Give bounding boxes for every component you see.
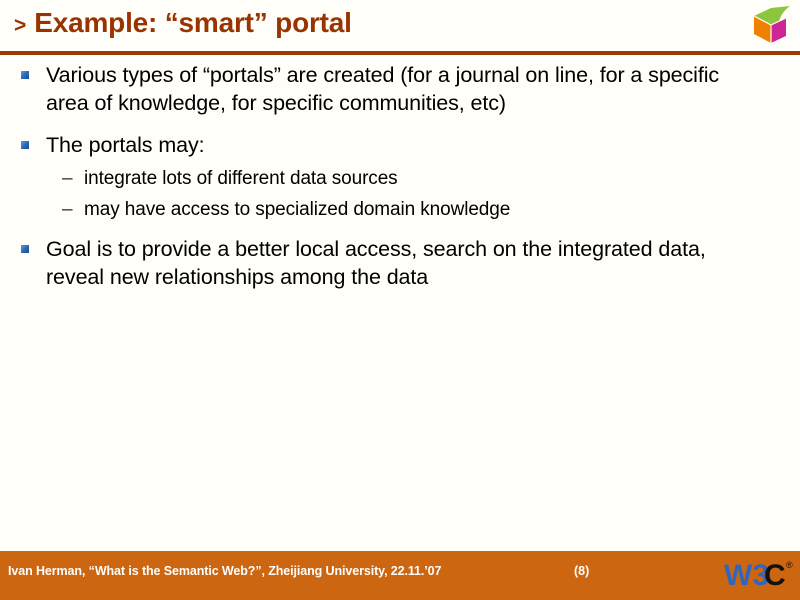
slide: > Example: “smart” portal Various types … xyxy=(0,0,800,600)
square-bullet-icon xyxy=(21,245,29,253)
svg-text:C: C xyxy=(764,559,786,592)
slide-footer: Ivan Herman, “What is the Semantic Web?”… xyxy=(0,551,800,600)
dash-bullet-icon: – xyxy=(62,166,72,193)
bullet-item: The portals may: xyxy=(0,132,800,160)
sub-bullet-item: – integrate lots of different data sourc… xyxy=(0,166,800,193)
bullet-text: Goal is to provide a better local access… xyxy=(46,237,706,289)
svg-text:W3: W3 xyxy=(724,559,769,592)
bullet-text: The portals may: xyxy=(46,133,205,157)
dash-bullet-icon: – xyxy=(62,197,72,224)
square-bullet-icon xyxy=(21,71,29,79)
page-number: (8) xyxy=(574,564,589,578)
svg-text:®: ® xyxy=(786,560,793,570)
bullet-item: Various types of “portals” are created (… xyxy=(0,62,800,118)
page-title: > Example: “smart” portal xyxy=(14,7,352,39)
sub-bullet-list: – integrate lots of different data sourc… xyxy=(0,166,800,224)
w3c-logo-icon: W3 C ® xyxy=(724,557,796,593)
bullet-item: Goal is to provide a better local access… xyxy=(0,236,800,292)
header-divider xyxy=(0,51,800,55)
title-text: Example: “smart” portal xyxy=(34,7,352,39)
bullet-text: Various types of “portals” are created (… xyxy=(46,63,719,115)
slide-header: > Example: “smart” portal xyxy=(0,0,800,53)
sub-bullet-item: – may have access to specialized domain … xyxy=(0,197,800,224)
sub-bullet-text: may have access to specialized domain kn… xyxy=(84,199,510,220)
footer-attribution: Ivan Herman, “What is the Semantic Web?”… xyxy=(8,564,441,578)
title-chevron-icon: > xyxy=(14,14,25,38)
cube-logo-icon xyxy=(750,3,794,47)
sub-bullet-text: integrate lots of different data sources xyxy=(84,168,398,189)
slide-body: Various types of “portals” are created (… xyxy=(0,62,800,295)
square-bullet-icon xyxy=(21,141,29,149)
